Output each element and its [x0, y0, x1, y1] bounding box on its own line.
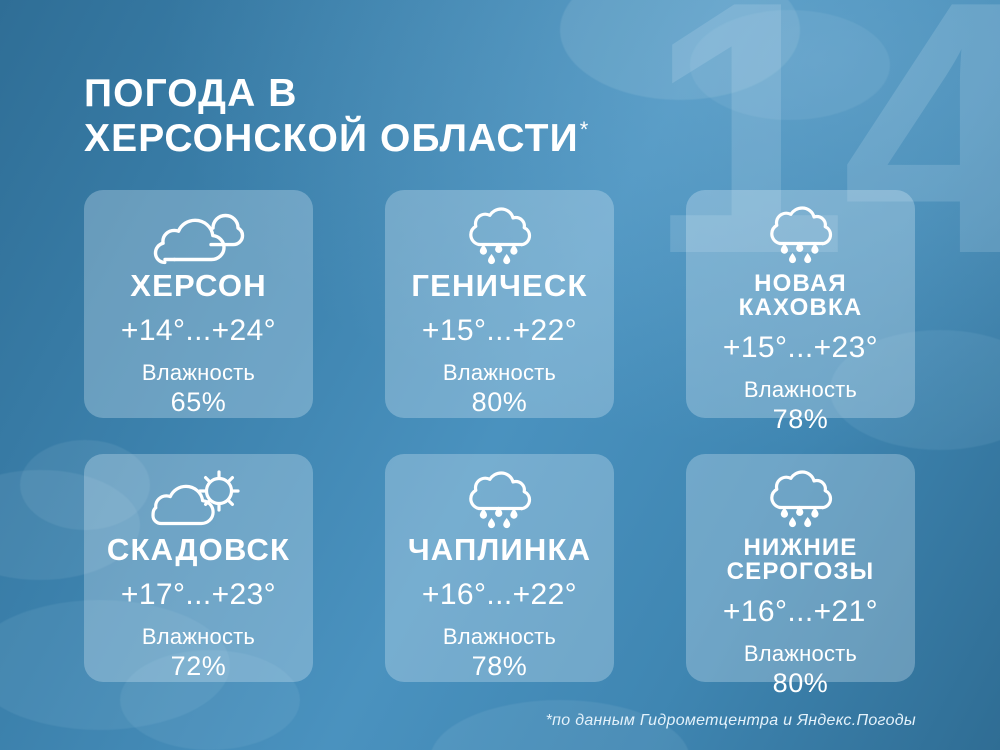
weather-card[interactable]: ГЕНИЧЕСК +15°...+22° Влажность 80% [385, 190, 614, 418]
page-title-asterisk: * [580, 117, 589, 142]
rain-icon [763, 206, 839, 266]
city-name: НОВАЯ КАХОВКА [739, 272, 863, 321]
humidity-value: 72% [171, 651, 227, 682]
humidity-label: Влажность [744, 377, 857, 403]
page-title-line-2: ХЕРСОНСКОЙ ОБЛАСТИ* [84, 117, 588, 161]
humidity-value: 80% [773, 668, 829, 699]
temperature-range: +14°...+24° [121, 314, 276, 348]
temperature-range: +16°...+22° [422, 578, 577, 612]
weather-card-grid: ХЕРСОН +14°...+24° Влажность 65% ГЕНИЧЕС… [84, 190, 916, 682]
city-name: НИЖНИЕ СЕРОГОЗЫ [727, 536, 875, 585]
city-name: СКАДОВСК [107, 534, 290, 566]
humidity-label: Влажность [142, 624, 255, 650]
rain-icon [462, 206, 538, 268]
humidity-label: Влажность [443, 360, 556, 386]
humidity-label: Влажность [142, 360, 255, 386]
city-name-line-2: КАХОВКА [739, 296, 863, 320]
weather-card[interactable]: ХЕРСОН +14°...+24° Влажность 65% [84, 190, 313, 418]
temperature-range: +16°...+21° [723, 595, 878, 629]
humidity-value: 65% [171, 387, 227, 418]
weather-card[interactable]: ЧАПЛИНКА +16°...+22° Влажность 78% [385, 454, 614, 682]
temperature-range: +15°...+22° [422, 314, 577, 348]
city-name-line-1: НОВАЯ [739, 272, 863, 296]
sun-behind-cloud-icon [151, 470, 247, 532]
city-name: ХЕРСОН [130, 270, 267, 302]
temperature-range: +17°...+23° [121, 578, 276, 612]
city-name: ГЕНИЧЕСК [411, 270, 587, 302]
rain-icon [763, 470, 839, 530]
temperature-range: +15°...+23° [723, 331, 878, 365]
page-title-line-1: ПОГОДА В [84, 72, 588, 116]
weather-card[interactable]: СКАДОВСК +17°...+23° Влажность 72% [84, 454, 313, 682]
city-name-line-1: НИЖНИЕ [727, 536, 875, 560]
source-note: *по данным Гидрометцентра и Яндекс.Погод… [546, 712, 916, 730]
humidity-value: 78% [773, 404, 829, 435]
weather-card[interactable]: НОВАЯ КАХОВКА +15°...+23° Влажность 78% [686, 190, 915, 418]
humidity-label: Влажность [744, 641, 857, 667]
rain-icon [462, 470, 538, 532]
humidity-value: 80% [472, 387, 528, 418]
humidity-label: Влажность [443, 624, 556, 650]
page-title: ПОГОДА В ХЕРСОНСКОЙ ОБЛАСТИ* [84, 72, 588, 161]
weather-infographic: 14 ПОГОДА В ХЕРСОНСКОЙ ОБЛАСТИ* ХЕРСОН +… [0, 0, 1000, 750]
cloudy-icon [153, 206, 245, 268]
city-name-line-2: СЕРОГОЗЫ [727, 560, 875, 584]
city-name: ЧАПЛИНКА [408, 534, 591, 566]
page-title-line-2-text: ХЕРСОНСКОЙ ОБЛАСТИ [84, 117, 579, 160]
weather-card[interactable]: НИЖНИЕ СЕРОГОЗЫ +16°...+21° Влажность 80… [686, 454, 915, 682]
humidity-value: 78% [472, 651, 528, 682]
